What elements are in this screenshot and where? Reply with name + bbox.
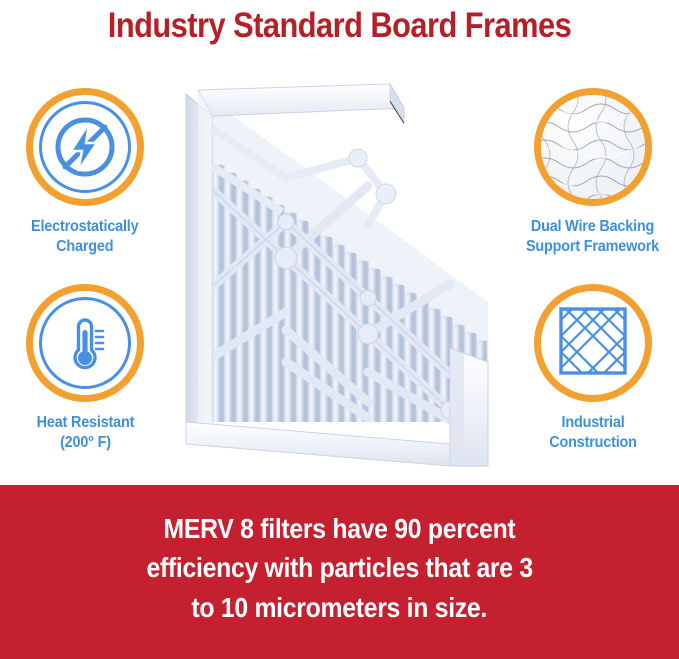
page-title: Industry Standard Board Frames bbox=[41, 0, 639, 52]
feature-ring bbox=[534, 284, 652, 402]
feature-dual-wire-backing: Dual Wire Backing Support Framework bbox=[508, 88, 678, 258]
feature-label-line: Charged bbox=[31, 237, 138, 257]
feature-label: Dual Wire Backing Support Framework bbox=[526, 217, 659, 258]
wire-mesh-photo bbox=[541, 95, 645, 199]
pleated-air-filter-render bbox=[158, 62, 518, 474]
feature-label: Heat Resistant (200° F) bbox=[36, 413, 134, 454]
feature-label-line: Electrostatically bbox=[31, 217, 138, 237]
feature-label-line: Dual Wire Backing bbox=[526, 217, 659, 237]
feature-electrostatically-charged: Electrostatically Charged bbox=[0, 88, 170, 258]
feature-label-line: Construction bbox=[549, 433, 636, 453]
lattice-frame-icon bbox=[554, 302, 632, 385]
banner-line: efficiency with particles that are 3 bbox=[146, 548, 532, 587]
feature-ring bbox=[26, 284, 144, 402]
feature-industrial-construction: Industrial Construction bbox=[508, 284, 678, 454]
feature-heat-resistant: Heat Resistant (200° F) bbox=[0, 284, 170, 454]
feature-ring bbox=[534, 88, 652, 206]
banner-line: MERV 8 filters have 90 percent bbox=[164, 509, 516, 548]
thermometer-icon bbox=[39, 297, 131, 389]
banner-line: to 10 micrometers in size. bbox=[192, 588, 488, 627]
feature-ring bbox=[26, 88, 144, 206]
efficiency-banner: MERV 8 filters have 90 percent efficienc… bbox=[0, 485, 679, 659]
feature-label-line: Industrial bbox=[549, 413, 636, 433]
feature-label-line: (200° F) bbox=[36, 433, 134, 453]
feature-label-line: Heat Resistant bbox=[36, 413, 134, 433]
feature-label-line: Support Framework bbox=[526, 237, 659, 257]
feature-label: Electrostatically Charged bbox=[31, 217, 138, 258]
feature-label: Industrial Construction bbox=[549, 413, 636, 454]
lightning-bolt-no-static-icon bbox=[39, 101, 131, 193]
